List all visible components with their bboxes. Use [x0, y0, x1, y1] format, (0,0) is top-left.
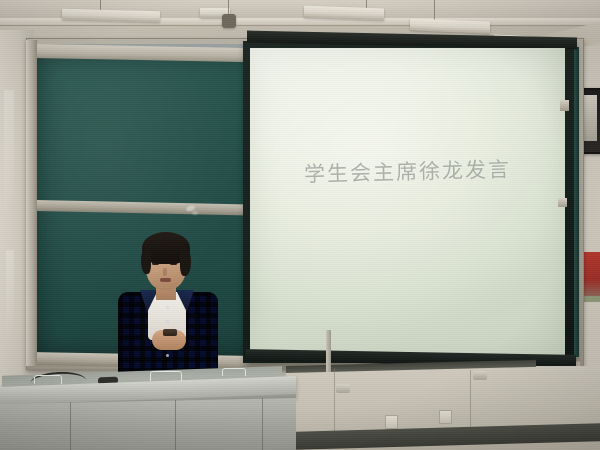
wall-sheen [6, 250, 14, 340]
held-object [163, 329, 177, 336]
nose [163, 268, 167, 276]
wall-sheen [4, 90, 14, 210]
desk-panel-seam [70, 402, 71, 450]
classroom-photo: 学生会主席徐龙发言 [0, 0, 600, 450]
screen-clip [560, 100, 569, 111]
desk-panel-seam [262, 398, 263, 450]
wall-bracket-1 [336, 384, 350, 393]
hair-side-right [180, 248, 191, 276]
wall-seam [334, 368, 335, 440]
hair-side-left [141, 248, 151, 274]
shirt-button [166, 306, 169, 309]
desk-handle-2[interactable] [150, 371, 182, 381]
desk-handle-1[interactable] [34, 375, 62, 384]
speaker-person [112, 226, 224, 384]
wall-outlet-1[interactable] [385, 415, 398, 429]
desk-body [0, 398, 296, 450]
projection-screen-surface [250, 48, 565, 356]
shirt-button [166, 320, 169, 323]
shirt-button [166, 354, 169, 357]
blackboard-left-post [26, 40, 37, 366]
desk-handle-3[interactable] [222, 368, 246, 376]
screen-clip [558, 198, 567, 207]
desk-panel-seam [175, 400, 176, 450]
wall-bracket-2 [473, 371, 487, 380]
ceiling-light-2 [222, 14, 236, 28]
framed-picture-content [583, 95, 597, 141]
chalk-smudge [192, 211, 198, 215]
mouth [160, 278, 171, 282]
wall-outlet-2[interactable] [439, 410, 452, 424]
vertical-pole [326, 330, 331, 372]
